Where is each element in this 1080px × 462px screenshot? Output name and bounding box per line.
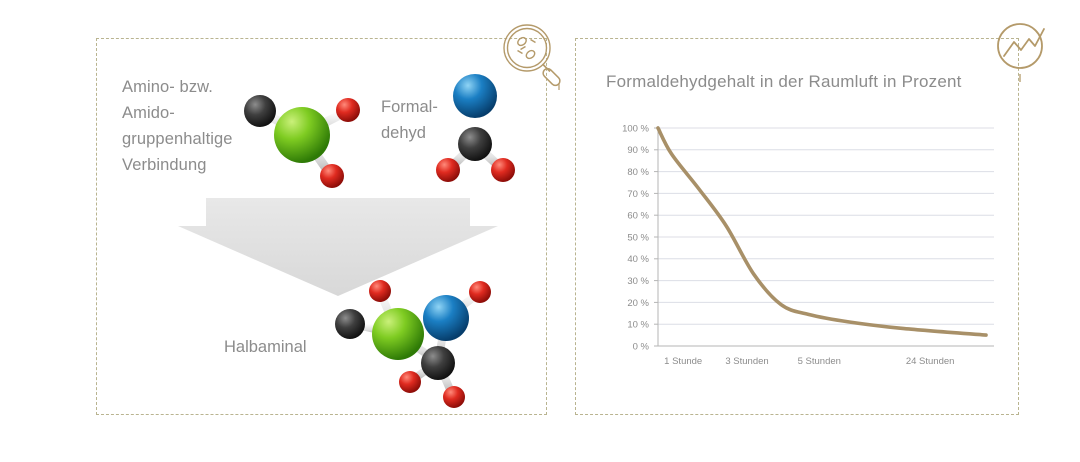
atom-group bbox=[274, 107, 330, 163]
y-tick-label: 60 % bbox=[627, 211, 649, 222]
amino-compound-molecule bbox=[236, 82, 368, 194]
product-label: Halbaminal bbox=[224, 338, 307, 357]
atom-oxygen bbox=[443, 386, 465, 408]
atom-nitrogen bbox=[453, 74, 497, 118]
atom-carbon bbox=[458, 127, 492, 161]
y-tick-label: 50 % bbox=[627, 232, 649, 243]
y-tick-label: 30 % bbox=[627, 276, 649, 287]
atom-oxygen bbox=[399, 371, 421, 393]
atom-group bbox=[372, 308, 424, 360]
halbaminal-molecule bbox=[322, 270, 506, 410]
atom-carbon bbox=[335, 309, 365, 339]
y-tick-label: 40 % bbox=[627, 254, 649, 265]
series-path bbox=[658, 128, 986, 335]
atom-oxygen bbox=[369, 280, 391, 302]
y-tick-label: 0 % bbox=[633, 341, 650, 352]
x-tick-label: 3 Stunden bbox=[725, 356, 768, 367]
atom-carbon bbox=[244, 95, 276, 127]
x-tick-label: 24 Stunden bbox=[906, 356, 955, 367]
y-tick-label: 80 % bbox=[627, 167, 649, 178]
atom-oxygen bbox=[320, 164, 344, 188]
x-tick-label: 5 Stunden bbox=[798, 356, 841, 367]
atom-oxygen bbox=[436, 158, 460, 182]
atom-carbon bbox=[421, 346, 455, 380]
atom-oxygen bbox=[469, 281, 491, 303]
line-chart: 100 %90 %80 %70 %60 %50 %40 %30 %20 %10 … bbox=[600, 118, 1000, 383]
x-tick-label: 1 Stunde bbox=[664, 356, 702, 367]
y-tick-label: 10 % bbox=[627, 320, 649, 331]
chart-title: Formaldehydgehalt in der Raumluft in Pro… bbox=[606, 72, 962, 92]
series-line bbox=[658, 128, 986, 335]
y-axis bbox=[654, 126, 994, 346]
atom-oxygen bbox=[491, 158, 515, 182]
x-tick-labels: 1 Stunde3 Stunden5 Stunden24 Stunden bbox=[664, 356, 954, 367]
y-tick-label: 90 % bbox=[627, 145, 649, 156]
grid-lines bbox=[658, 128, 994, 324]
chart-svg: 100 %90 %80 %70 %60 %50 %40 %30 %20 %10 … bbox=[600, 118, 1000, 383]
y-tick-label: 100 % bbox=[622, 123, 649, 134]
y-tick-labels: 100 %90 %80 %70 %60 %50 %40 %30 %20 %10 … bbox=[622, 123, 649, 352]
y-tick-label: 70 % bbox=[627, 189, 649, 200]
formaldehyde-molecule bbox=[428, 68, 524, 188]
atom-oxygen bbox=[336, 98, 360, 122]
y-tick-label: 20 % bbox=[627, 298, 649, 309]
atom-nitrogen bbox=[423, 295, 469, 341]
